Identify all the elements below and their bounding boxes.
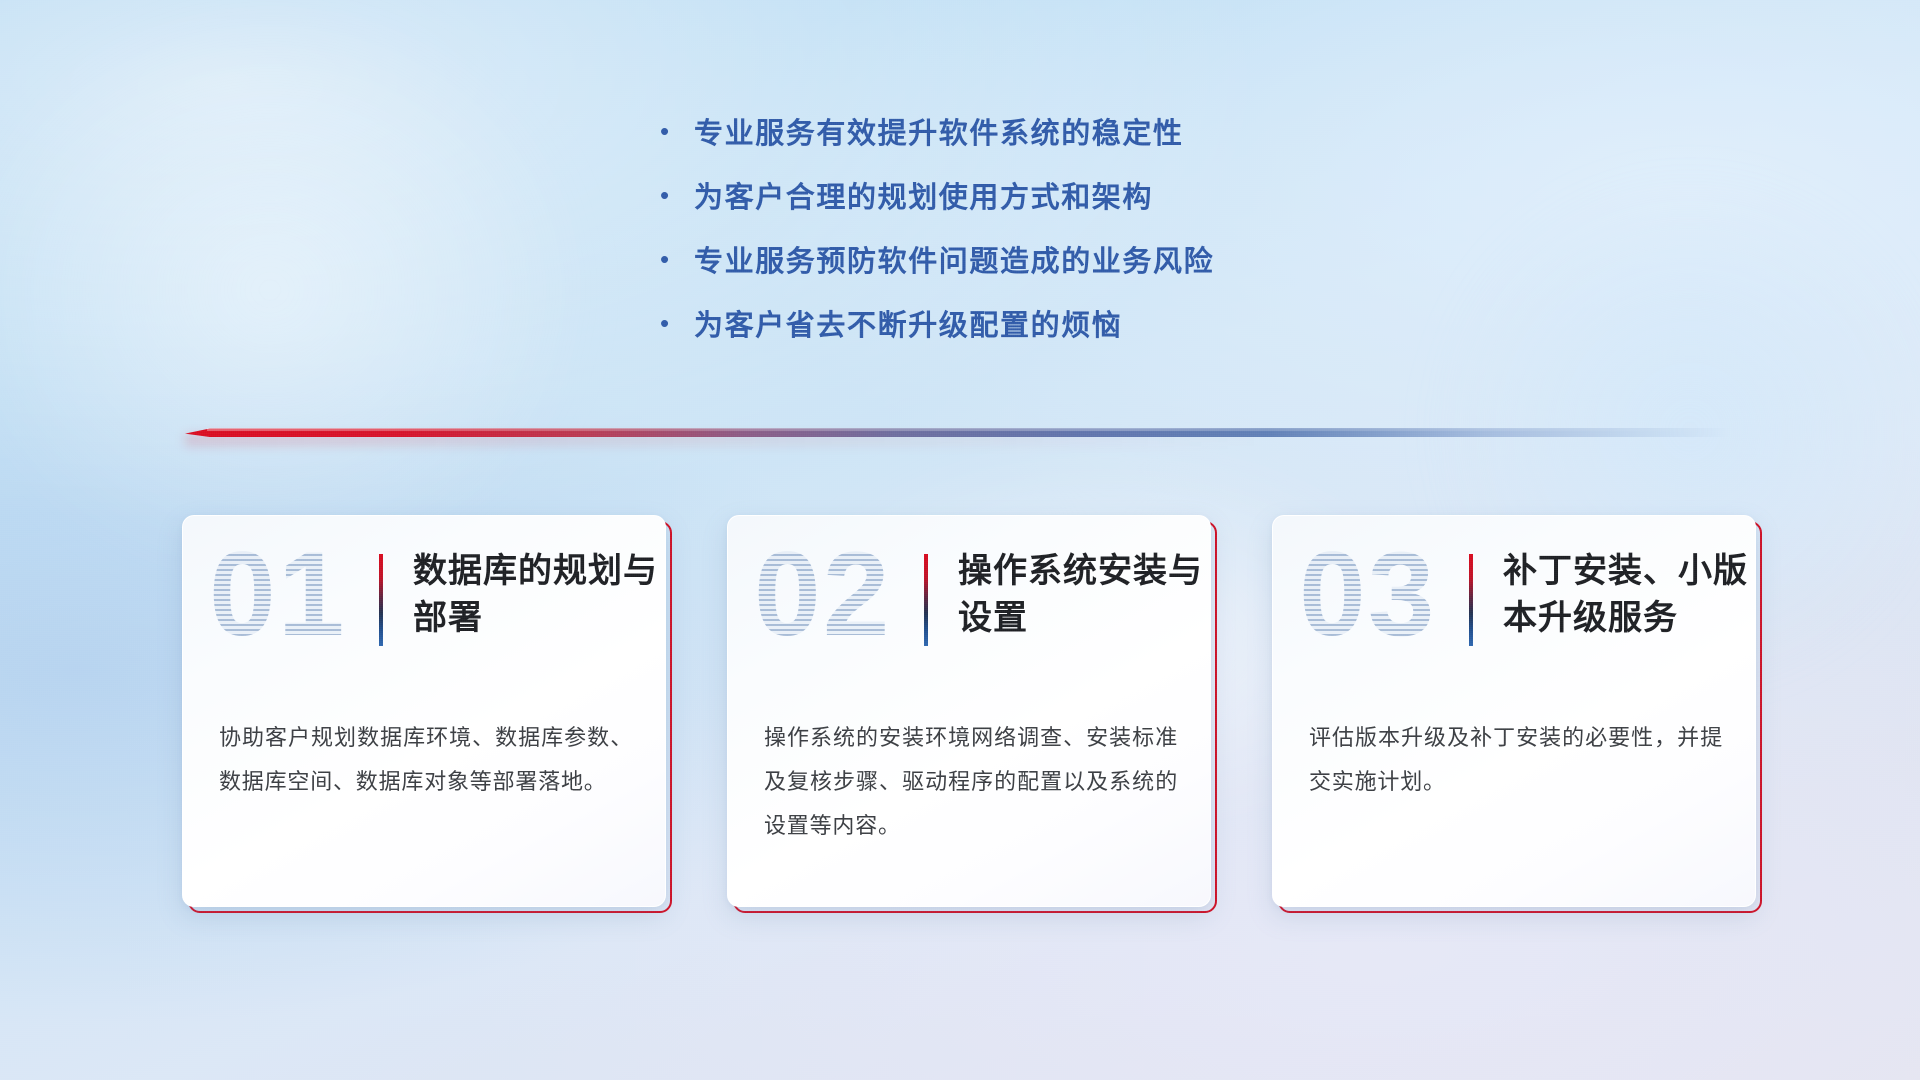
- bullet-list: • 专业服务有效提升软件系统的稳定性 • 为客户合理的规划使用方式和架构 • 专…: [660, 110, 1420, 366]
- card-row: 01 01 数据库的规划与部署 协助客户规划数据库环境、数据库参数、数据库空间、…: [182, 515, 1762, 913]
- card-header: 操作系统安装与设置: [924, 548, 1208, 646]
- card-number-watermark: 01: [209, 534, 346, 654]
- card-accent-bar: [924, 554, 928, 646]
- card-header: 补丁安装、小版本升级服务: [1469, 548, 1753, 646]
- divider-glow: [185, 434, 1267, 446]
- bullet-dot-icon: •: [660, 246, 694, 272]
- list-item: • 专业服务有效提升软件系统的稳定性: [660, 110, 1420, 174]
- divider-highlight: [207, 428, 1730, 431]
- card-number-shadow: 01: [209, 534, 346, 654]
- card-panel: 02 02 操作系统安装与设置 操作系统的安装环境网络调查、安装标准及复核步骤、…: [727, 515, 1211, 907]
- card-description: 操作系统的安装环境网络调查、安装标准及复核步骤、驱动程序的配置以及系统的设置等内…: [764, 716, 1178, 848]
- list-item: • 为客户省去不断升级配置的烦恼: [660, 302, 1420, 366]
- bullet-text: 为客户省去不断升级配置的烦恼: [694, 302, 1122, 344]
- bullet-text: 专业服务预防软件问题造成的业务风险: [694, 238, 1214, 280]
- card-title: 数据库的规划与部署: [413, 548, 663, 642]
- card-panel: 01 01 数据库的规划与部署 协助客户规划数据库环境、数据库参数、数据库空间、…: [182, 515, 666, 907]
- card-panel: 03 03 补丁安装、小版本升级服务 评估版本升级及补丁安装的必要性，并提交实施…: [1272, 515, 1756, 907]
- card-number-watermark: 03: [1299, 534, 1436, 654]
- bullet-dot-icon: •: [660, 118, 694, 144]
- service-card[interactable]: 03 03 补丁安装、小版本升级服务 评估版本升级及补丁安装的必要性，并提交实施…: [1272, 515, 1762, 913]
- card-header: 数据库的规划与部署: [379, 548, 663, 646]
- card-description: 评估版本升级及补丁安装的必要性，并提交实施计划。: [1309, 716, 1723, 804]
- section-divider: [185, 425, 1730, 443]
- card-number-shadow: 03: [1299, 534, 1436, 654]
- slide-root: • 专业服务有效提升软件系统的稳定性 • 为客户合理的规划使用方式和架构 • 专…: [0, 0, 1920, 1080]
- card-number-shadow: 02: [754, 534, 891, 654]
- card-title: 补丁安装、小版本升级服务: [1503, 548, 1753, 642]
- card-number-watermark: 02: [754, 534, 891, 654]
- service-card[interactable]: 02 02 操作系统安装与设置 操作系统的安装环境网络调查、安装标准及复核步骤、…: [727, 515, 1217, 913]
- card-title: 操作系统安装与设置: [958, 548, 1208, 642]
- bullet-text: 为客户合理的规划使用方式和架构: [694, 174, 1153, 216]
- divider-rule: [185, 428, 1730, 437]
- bullet-dot-icon: •: [660, 182, 694, 208]
- service-card[interactable]: 01 01 数据库的规划与部署 协助客户规划数据库环境、数据库参数、数据库空间、…: [182, 515, 672, 913]
- card-accent-bar: [1469, 554, 1473, 646]
- bullet-text: 专业服务有效提升软件系统的稳定性: [694, 110, 1184, 152]
- card-description: 协助客户规划数据库环境、数据库参数、数据库空间、数据库对象等部署落地。: [219, 716, 633, 804]
- card-accent-bar: [379, 554, 383, 646]
- list-item: • 专业服务预防软件问题造成的业务风险: [660, 238, 1420, 302]
- list-item: • 为客户合理的规划使用方式和架构: [660, 174, 1420, 238]
- bullet-dot-icon: •: [660, 310, 694, 336]
